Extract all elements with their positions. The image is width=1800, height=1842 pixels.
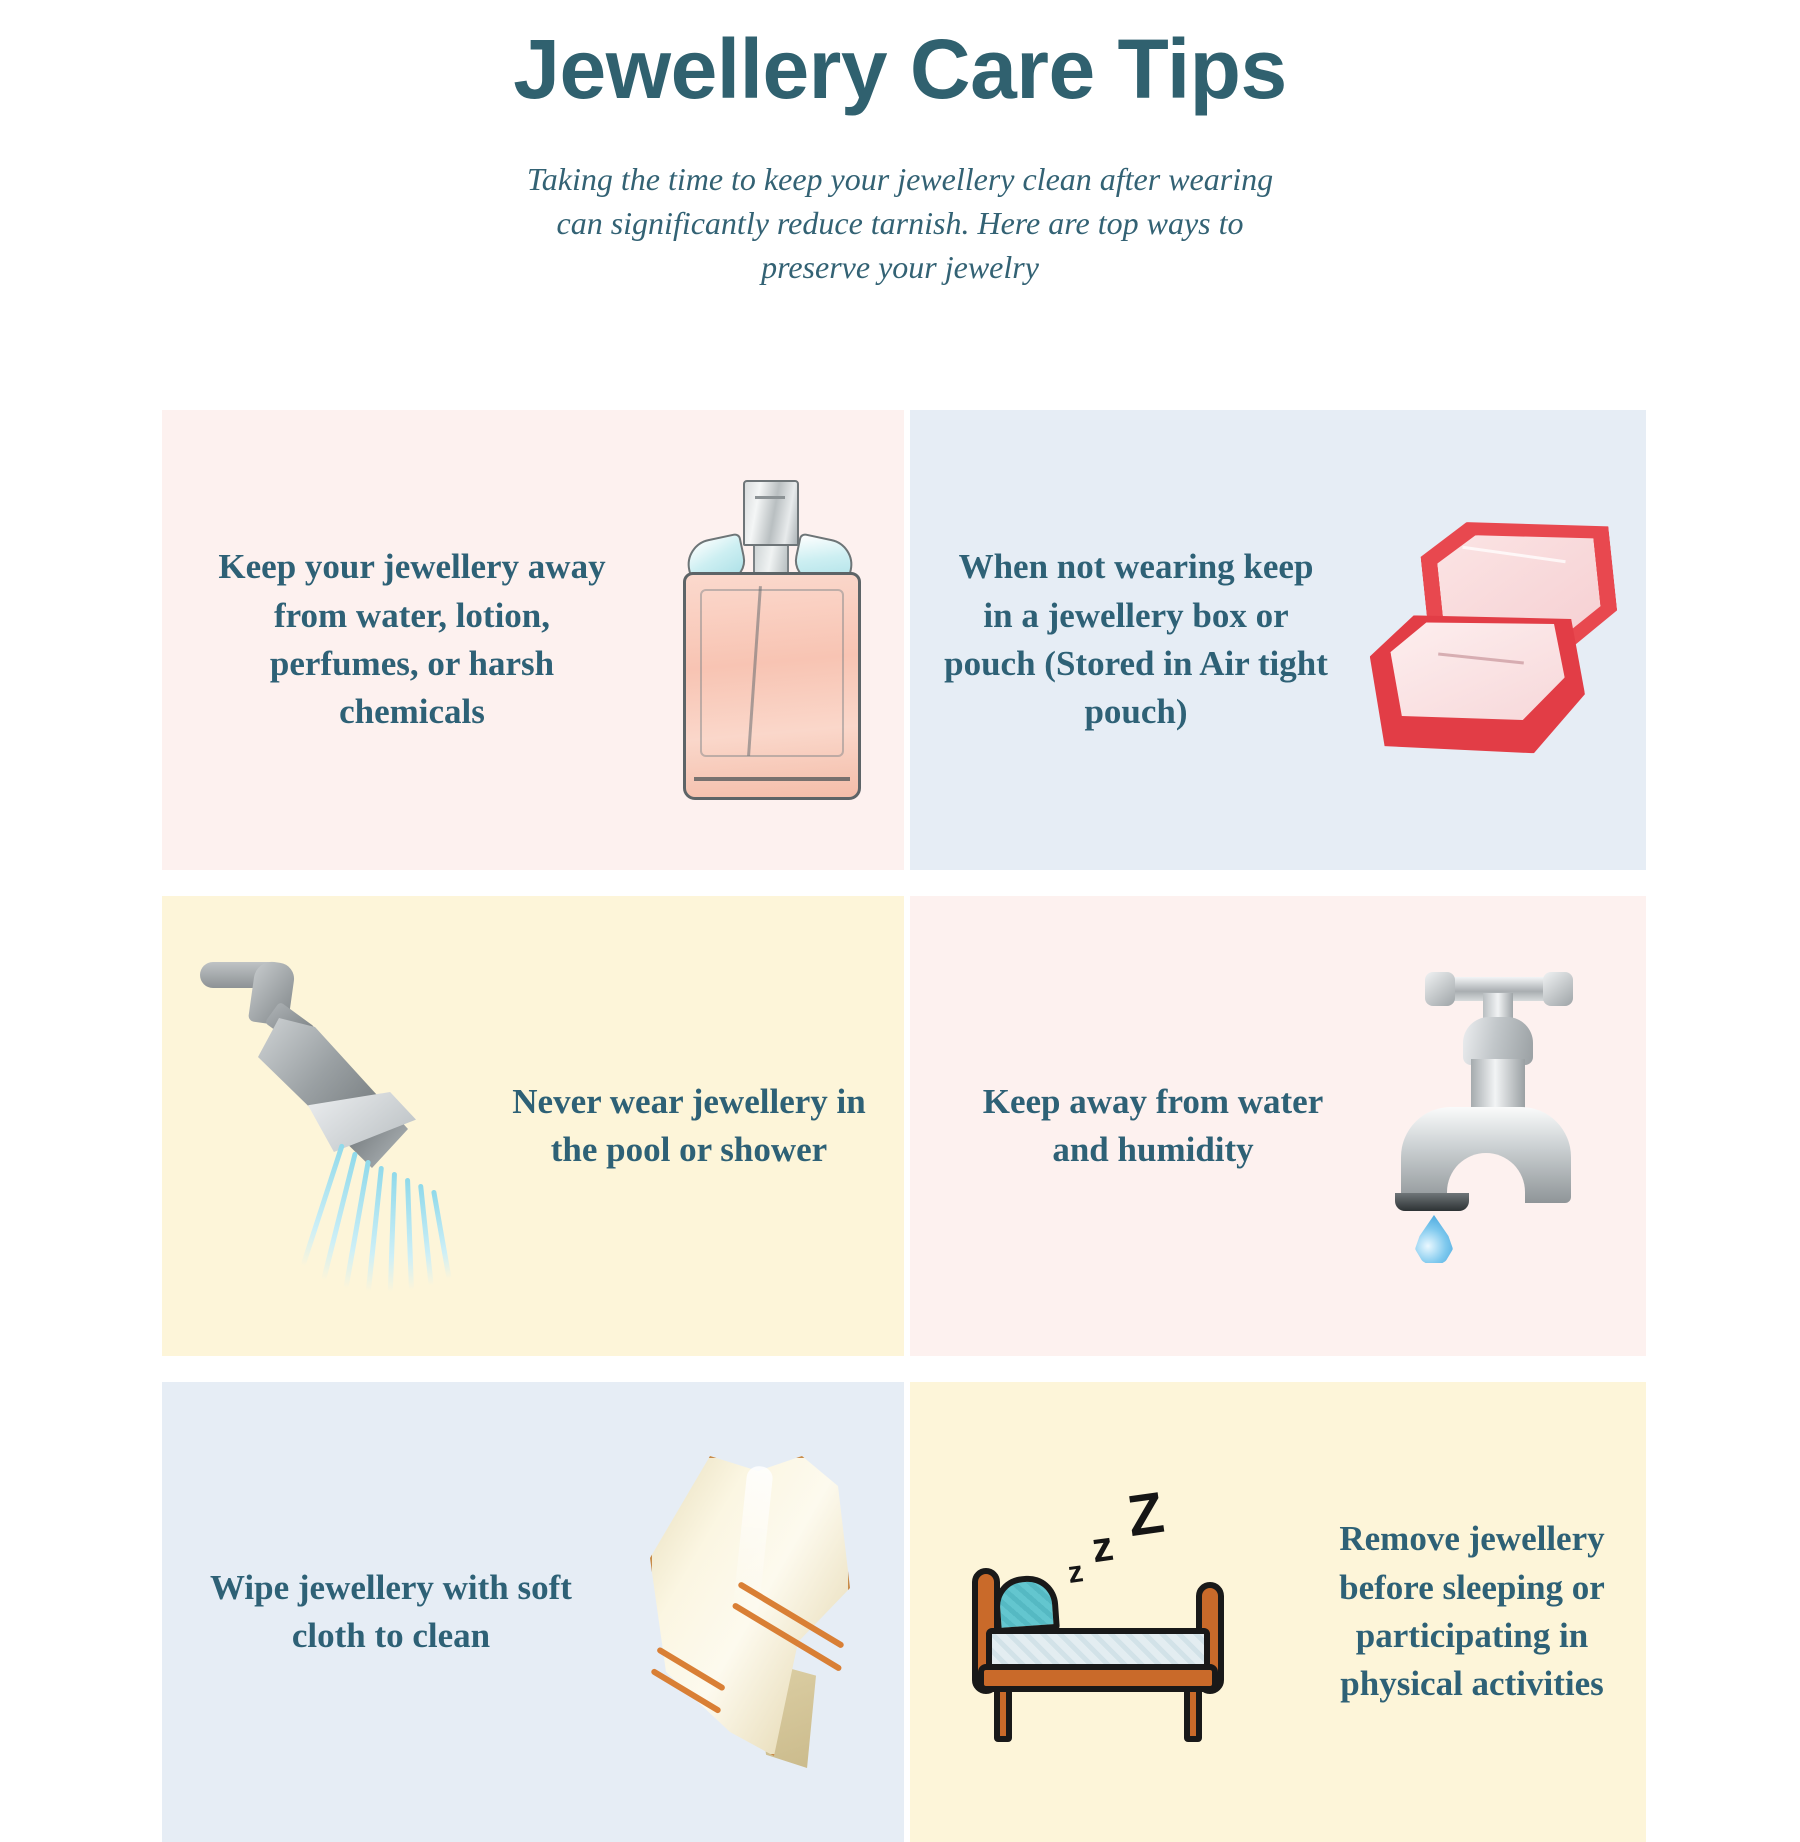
water-jet	[431, 1190, 452, 1280]
tip-card-avoid-chemicals[interactable]: Keep your jewellery away from water, lot…	[162, 410, 904, 870]
tip-text: When not wearing keep in a jewellery box…	[940, 543, 1332, 736]
faucet-dome	[1463, 1017, 1533, 1065]
sleep-mark-medium: z	[1089, 1525, 1116, 1570]
infographic-page: Jewellery Care Tips Taking the time to k…	[0, 0, 1800, 1800]
bottle-cap	[743, 480, 799, 546]
bottle-body	[683, 572, 861, 800]
header: Jewellery Care Tips Taking the time to k…	[0, 0, 1800, 289]
water-jet	[301, 1143, 345, 1266]
soft-cloth-icon	[614, 1447, 904, 1777]
water-jet	[418, 1184, 434, 1286]
bed-pillow	[992, 1574, 1060, 1634]
sleep-mark-large: Z	[1124, 1484, 1167, 1546]
cloth-outline	[650, 1456, 850, 1756]
tip-card-store-in-box[interactable]: When not wearing keep in a jewellery box…	[910, 410, 1646, 870]
bed-leg-left	[994, 1686, 1012, 1742]
tip-text: Remove jewellery before sleeping or part…	[1298, 1515, 1646, 1708]
tip-text: Keep your jewellery away from water, lot…	[200, 543, 624, 736]
faucet-mouth	[1395, 1193, 1469, 1211]
tip-card-wipe-with-cloth[interactable]: Wipe jewellery with soft cloth to clean	[162, 1382, 904, 1842]
bed-frame	[978, 1664, 1218, 1692]
tip-text: Keep away from water and humidity	[970, 1078, 1336, 1175]
faucet-spout	[1401, 1107, 1571, 1203]
water-jet	[366, 1166, 384, 1292]
water-jet	[405, 1178, 414, 1290]
jewellery-box-icon	[1346, 490, 1646, 790]
page-subtitle: Taking the time to keep your jewellery c…	[505, 157, 1295, 289]
sleep-mark-small: z	[1066, 1557, 1085, 1589]
bed-sleeping-icon: z z Z	[950, 1462, 1270, 1762]
water-jet	[388, 1172, 397, 1292]
tips-grid: Keep your jewellery away from water, lot…	[162, 410, 1640, 1842]
tip-text: Wipe jewellery with soft cloth to clean	[198, 1564, 584, 1661]
tip-card-no-pool-or-shower[interactable]: Never wear jewellery in the pool or show…	[162, 896, 904, 1356]
tip-text: Never wear jewellery in the pool or show…	[504, 1078, 874, 1175]
tip-card-remove-before-sleep[interactable]: z z Z Remove jewellery before sleeping o…	[910, 1382, 1646, 1842]
page-title: Jewellery Care Tips	[0, 24, 1800, 115]
water-drop-icon	[1415, 1215, 1453, 1265]
tip-card-avoid-water-humidity[interactable]: Keep away from water and humidity	[910, 896, 1646, 1356]
bed-leg-right	[1184, 1686, 1202, 1742]
shower-head-icon	[180, 946, 480, 1306]
faucet-icon	[1346, 961, 1646, 1291]
perfume-bottle-icon	[634, 470, 904, 810]
